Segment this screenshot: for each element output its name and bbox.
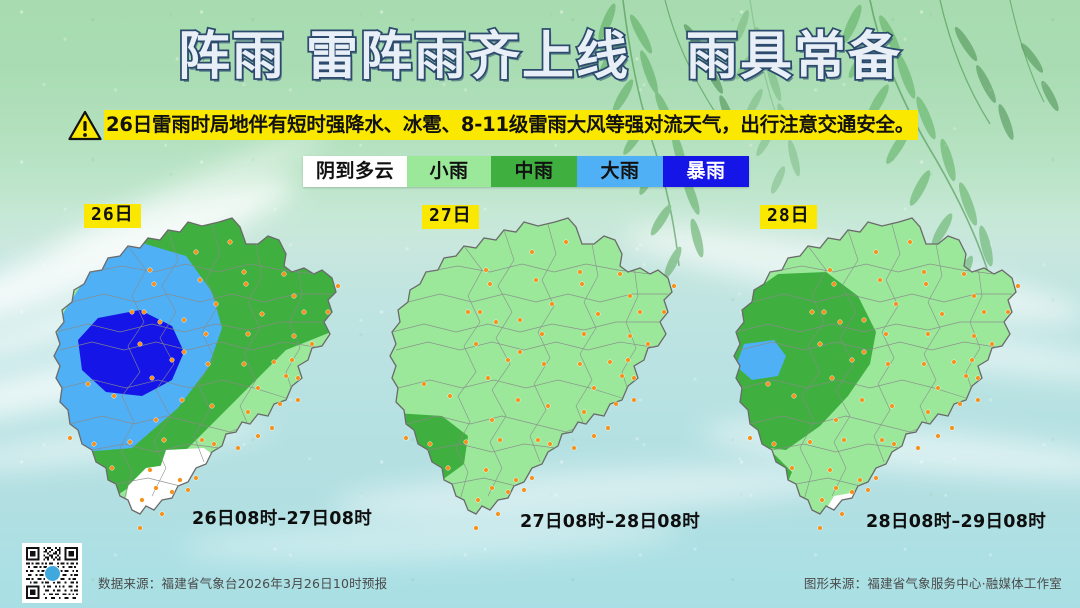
map-date-badge: 26日: [84, 204, 141, 228]
warning-triangle-icon: [68, 110, 102, 141]
graphic-source-text: 图形来源：福建省气象服务中心·融媒体工作室: [804, 573, 1062, 592]
map-period-label: 26日08时–27日08时: [192, 505, 372, 530]
title-part-2: 雨具常备: [686, 14, 902, 89]
warning-banner: 26日雷雨时局地伴有短时强降水、冰雹、8-11级雷雨大风等强对流天气，出行注意交…: [68, 108, 918, 142]
map-period-label: 28日08时–29日08时: [866, 508, 1046, 533]
map-date-badge: 28日: [760, 205, 817, 229]
qr-code[interactable]: [22, 543, 82, 603]
legend-item-moderate-rain[interactable]: 中雨: [491, 156, 577, 187]
map-date-badge: 27日: [422, 205, 479, 229]
legend-label: 小雨: [429, 162, 468, 181]
fujian-map-26[interactable]: [36, 200, 376, 545]
forecast-map-panel-3[interactable]: 28日: [716, 200, 1056, 545]
legend-label: 大雨: [600, 162, 639, 181]
fujian-map-28[interactable]: [716, 200, 1056, 545]
precipitation-legend: 阴到多云 小雨 中雨 大雨 暴雨: [303, 156, 749, 187]
legend-item-rainstorm[interactable]: 暴雨: [663, 156, 749, 187]
forecast-map-panel-1[interactable]: 26日: [36, 200, 376, 545]
title-part-1: 阵雨 雷阵雨齐上线: [178, 14, 630, 89]
map-period-label: 27日08时–28日08时: [520, 508, 700, 533]
warning-text: 26日雷雨时局地伴有短时强降水、冰雹、8-11级雷雨大风等强对流天气，出行注意交…: [106, 115, 914, 135]
fujian-map-27[interactable]: [372, 200, 712, 545]
qr-center-logo: [44, 565, 61, 582]
legend-label: 阴到多云: [316, 162, 394, 181]
page-title: 阵雨 雷阵雨齐上线雨具常备: [0, 14, 1080, 89]
legend-item-cloudy[interactable]: 阴到多云: [303, 156, 407, 187]
forecast-map-panel-2[interactable]: 27日: [372, 200, 712, 545]
legend-item-light-rain[interactable]: 小雨: [407, 156, 491, 187]
legend-label: 暴雨: [686, 162, 725, 181]
data-source-text: 数据来源：福建省气象台2026年3月26日10时预报: [98, 573, 387, 592]
infographic-canvas: 阵雨 雷阵雨齐上线雨具常备 26日雷雨时局地伴有短时强降水、冰雹、8-11级雷雨…: [0, 0, 1080, 608]
legend-label: 中雨: [514, 162, 553, 181]
legend-item-heavy-rain[interactable]: 大雨: [577, 156, 663, 187]
